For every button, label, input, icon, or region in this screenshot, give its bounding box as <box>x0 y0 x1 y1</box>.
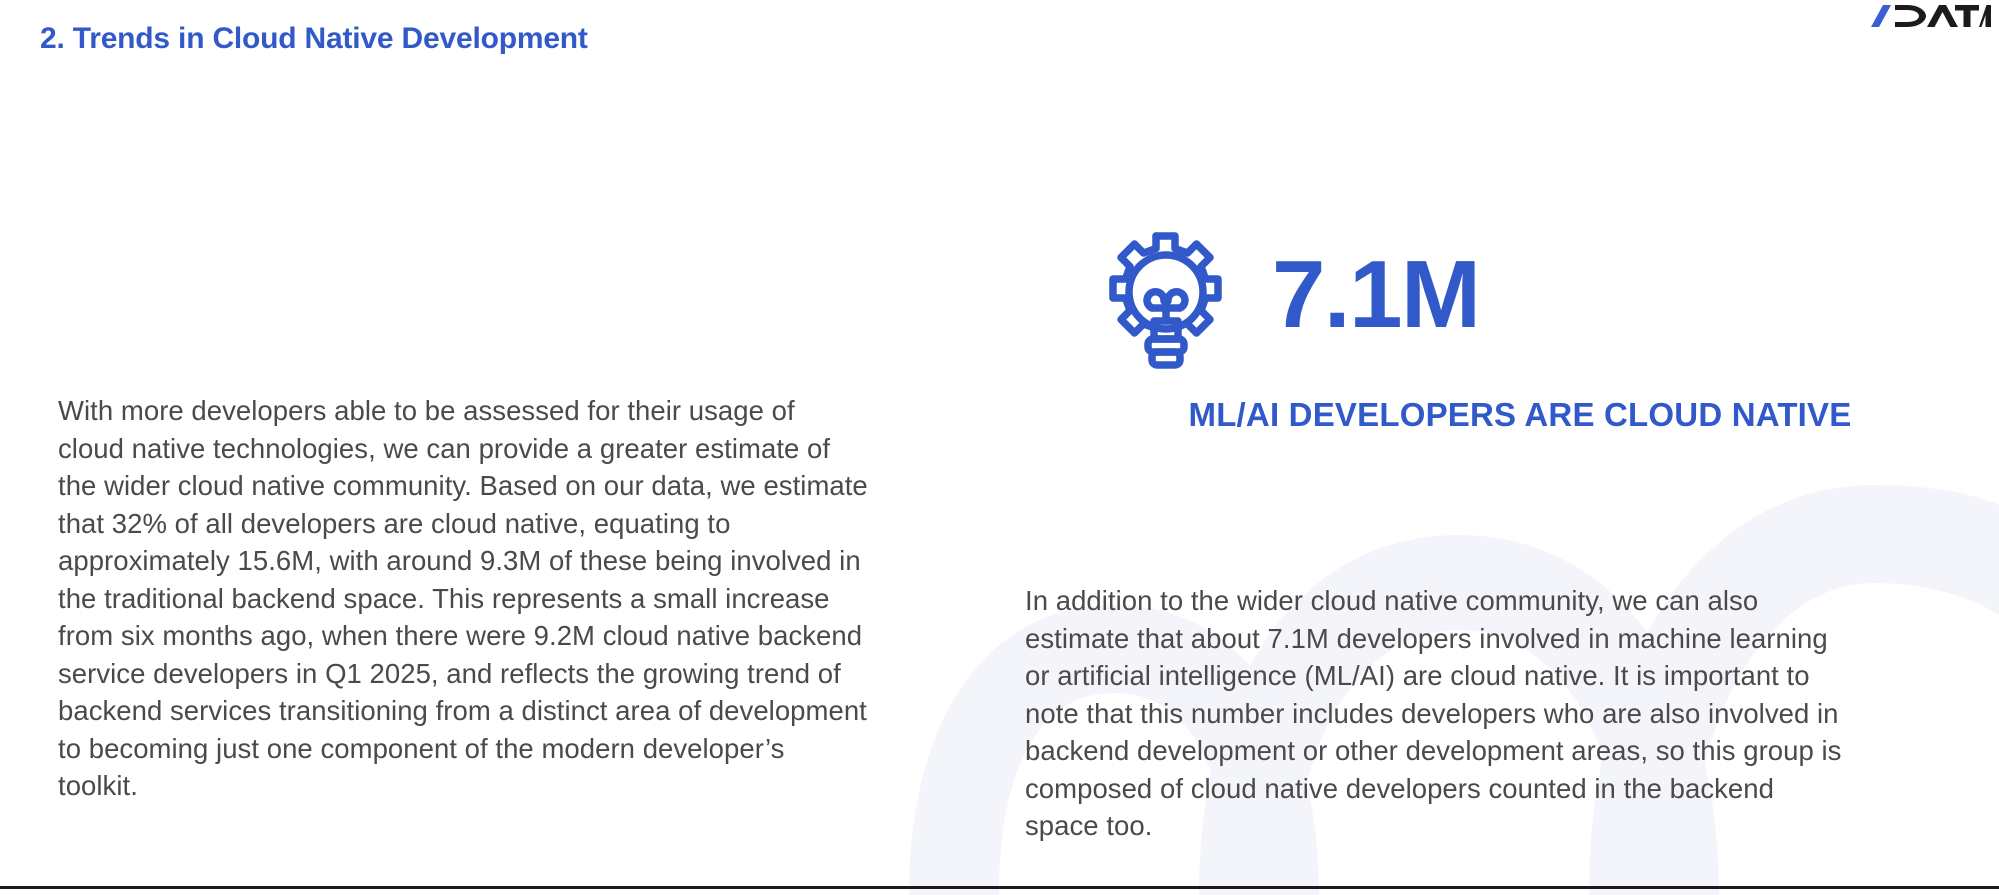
logo-letter-a2 <box>1979 5 1991 27</box>
left-text-column: With more developers able to be assessed… <box>58 392 868 805</box>
stat-callout: 7.1M ML/AI DEVELOPERS ARE CLOUD NATIVE <box>1090 222 1950 434</box>
right-paragraph: In addition to the wider cloud native co… <box>1025 582 1845 845</box>
right-text-column: In addition to the wider cloud native co… <box>1025 582 1845 845</box>
stat-value: 7.1M <box>1272 247 1479 349</box>
stat-row: 7.1M <box>1090 222 1950 374</box>
logo-letter-d <box>1895 5 1926 27</box>
slide-canvas: 2. Trends in Cloud Native Development Wi… <box>0 0 1999 895</box>
footer-rule <box>0 886 1999 889</box>
logo-slash-icon <box>1871 5 1891 27</box>
left-paragraph: With more developers able to be assessed… <box>58 392 868 805</box>
logo-letter-t <box>1955 5 1979 27</box>
lightbulb-gear-icon <box>1092 222 1242 374</box>
logo-letter-a1 <box>1927 5 1958 27</box>
stat-caption: ML/AI DEVELOPERS ARE CLOUD NATIVE <box>1090 396 1950 434</box>
page-title: 2. Trends in Cloud Native Development <box>40 22 588 56</box>
brand-logo <box>1869 2 1991 30</box>
